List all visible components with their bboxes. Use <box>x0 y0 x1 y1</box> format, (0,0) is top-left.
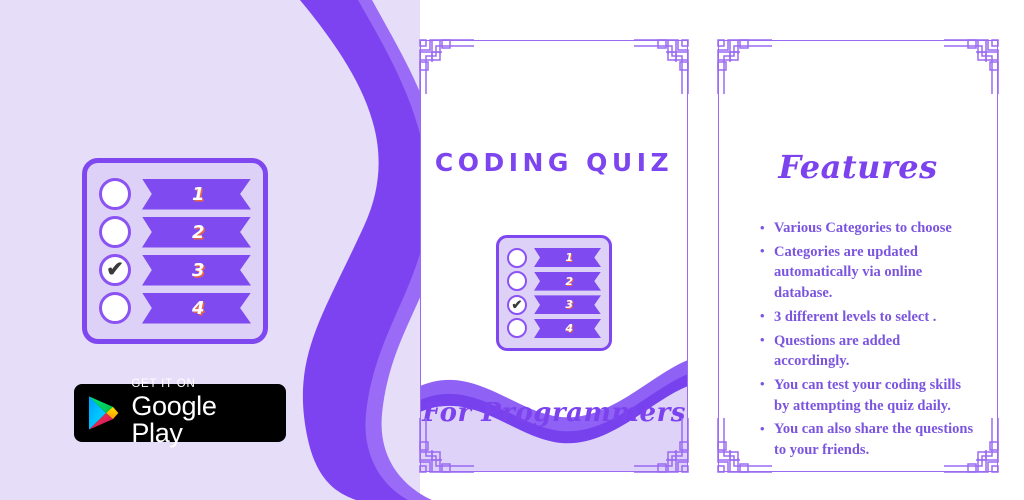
corner-ornament-top-left-icon <box>716 38 772 94</box>
answer-ribbon-1[interactable]: 1 <box>142 179 251 210</box>
google-play-badge[interactable]: GET IT ON Google Play <box>74 384 286 442</box>
app-icon-large: 1 2 ✔ 3 4 <box>82 158 268 344</box>
icon-row: 4 <box>99 291 251 325</box>
check-icon: ✔ <box>106 259 124 280</box>
feature-item: 3 different levels to select . <box>760 307 978 328</box>
card-title-coding-quiz: CODING QUIZ <box>420 148 688 177</box>
features-list: Various Categories to choose Categories … <box>760 218 978 464</box>
ribbon-number: 4 <box>192 298 205 319</box>
radio-option-1[interactable] <box>507 248 527 268</box>
radio-option-1[interactable] <box>99 178 131 210</box>
ribbon-number: 2 <box>192 222 205 243</box>
corner-ornament-top-right-icon <box>944 38 1000 94</box>
radio-option-2[interactable] <box>507 271 527 291</box>
feature-item: You can also share the questions to your… <box>760 419 978 460</box>
radio-option-4[interactable] <box>99 292 131 324</box>
icon-row: 4 <box>507 318 601 339</box>
right-features-card: Features Various Categories to choose Ca… <box>718 40 998 472</box>
check-icon: ✔ <box>512 298 523 311</box>
feature-item: Various Categories to choose <box>760 218 978 239</box>
ribbon-number: 2 <box>565 275 573 288</box>
answer-ribbon-3[interactable]: 3 <box>142 255 251 286</box>
feature-item: Categories are updated automatically via… <box>760 242 978 304</box>
answer-ribbon-4[interactable]: 4 <box>534 319 601 338</box>
icon-row: 2 <box>99 215 251 249</box>
radio-option-3-selected[interactable]: ✔ <box>507 295 527 315</box>
google-play-triangle-icon <box>88 395 119 431</box>
radio-option-3-selected[interactable]: ✔ <box>99 254 131 286</box>
app-icon-small: 1 2 ✔ 3 4 <box>496 235 612 351</box>
answer-ribbon-2[interactable]: 2 <box>534 272 601 291</box>
badge-line-top: GET IT ON <box>131 379 272 391</box>
card-subtitle-for-programmers: For Programmers <box>420 398 688 428</box>
feature-item: Questions are added accordingly. <box>760 331 978 372</box>
icon-row: 1 <box>99 177 251 211</box>
answer-ribbon-4[interactable]: 4 <box>142 293 251 324</box>
icon-row: 1 <box>507 247 601 268</box>
answer-ribbon-3[interactable]: 3 <box>534 295 601 314</box>
middle-screenshot-card: CODING QUIZ 1 2 ✔ 3 4 For Programmers <box>420 40 688 472</box>
google-play-badge-text: GET IT ON Google Play <box>131 379 272 447</box>
ribbon-number: 3 <box>192 260 205 281</box>
ribbon-number: 3 <box>565 298 573 311</box>
ribbon-number: 1 <box>565 251 573 264</box>
ribbon-number: 1 <box>192 184 205 205</box>
radio-option-2[interactable] <box>99 216 131 248</box>
features-heading: Features <box>718 148 998 186</box>
feature-item: You can test your coding skills by attem… <box>760 375 978 416</box>
icon-row: ✔ 3 <box>507 294 601 315</box>
feature-graphic-canvas: 1 2 ✔ 3 4 <box>0 0 1024 500</box>
ribbon-number: 4 <box>565 322 573 335</box>
radio-option-4[interactable] <box>507 318 527 338</box>
icon-row: ✔ 3 <box>99 253 251 287</box>
icon-row: 2 <box>507 271 601 292</box>
badge-line-bottom: Google Play <box>131 393 272 447</box>
answer-ribbon-2[interactable]: 2 <box>142 217 251 248</box>
answer-ribbon-1[interactable]: 1 <box>534 248 601 267</box>
